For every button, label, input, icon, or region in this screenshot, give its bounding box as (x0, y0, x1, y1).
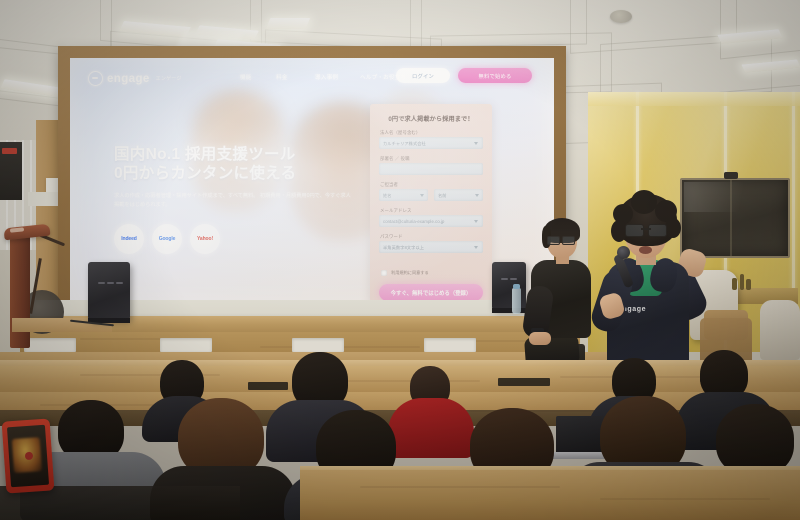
video-camera-icon (724, 172, 738, 179)
partner-logo-google: Google (152, 224, 182, 254)
signup-button[interactable]: 無料で始める (458, 68, 532, 83)
stage-recess (424, 338, 476, 352)
desk-object (732, 278, 737, 290)
hero-headline: 国内No.1 採用支援ツール 0円からカンタンに使える (114, 146, 364, 184)
form-value-company: カルチャリア株式会社 (383, 141, 426, 147)
partner-logos: Indeed Google Yahoo! (114, 224, 220, 254)
chevron-down-icon (420, 194, 424, 197)
headline-line-2: 0円からカンタンに使える (114, 165, 364, 184)
engage-circle-logo-icon (88, 71, 103, 86)
stage-recess (292, 338, 344, 352)
nav-item-0[interactable]: 機能 (240, 73, 252, 81)
desk-slot (498, 378, 550, 386)
terms-label: 利用規約に同意する (391, 270, 429, 276)
chevron-down-icon (474, 246, 478, 249)
headline-line-1: 国内No.1 採用支援ツール (114, 146, 364, 165)
login-button[interactable]: ログイン (396, 68, 450, 83)
engage-logo[interactable]: engage エンゲージ (88, 71, 182, 86)
signup-form-card: 0円で求人掲載から採用まで！ 法人名（屋号含む） カルチャリア株式会社 部署名 … (370, 104, 492, 304)
white-shelf-panel (28, 192, 62, 206)
partner-label: Yahoo! (197, 236, 213, 242)
logo-text: engage (107, 73, 150, 85)
panelist-hand (529, 332, 551, 345)
desk-object (746, 279, 751, 290)
form-input-department[interactable] (379, 163, 483, 175)
form-value-lastname: 姓名 (383, 193, 392, 199)
smartphone-red-case[interactable] (2, 418, 55, 493)
desk-object (740, 274, 744, 290)
exit-sign-icon (2, 148, 17, 154)
form-label-company: 法人名（屋号含む） (380, 130, 420, 136)
chevron-down-icon (474, 142, 478, 145)
partner-logo-indeed: Indeed (114, 224, 144, 254)
chevron-down-icon (475, 194, 479, 197)
pa-speaker (88, 262, 130, 320)
form-value-email: contact@culturia-example.co.jp (383, 219, 444, 224)
form-value-password: 半角英数字8文字以上 (383, 245, 424, 251)
terms-checkbox[interactable] (381, 270, 387, 276)
logo-subtext: エンゲージ (156, 75, 182, 82)
office-chair (760, 300, 800, 360)
audience-shoulders-red-sweater (388, 398, 474, 458)
form-label-contact: ご担当者 (380, 182, 398, 188)
partner-logo-yahoo: Yahoo! (190, 224, 220, 254)
stage-recess (160, 338, 212, 352)
seminar-room-photo: engage エンゲージ 機能 料金 導入事例 ヘルプ・お役立ち ログイン 無料… (0, 0, 800, 520)
front-desk (300, 470, 800, 520)
seated-panelist (525, 222, 595, 372)
chevron-down-icon (474, 220, 478, 223)
wood-pillar (36, 120, 60, 300)
stage-recess (24, 338, 76, 352)
desk-slot (248, 382, 288, 390)
microphone-head-icon (617, 246, 630, 259)
form-title: 0円で求人掲載から採用まで！ (370, 114, 492, 123)
bottle-cap (513, 284, 520, 289)
phone-screen[interactable] (7, 425, 49, 488)
hero-subcopy: 求人の作成・応募者管理・採用サイト作成まで、すべて無料。 初期費用・月額費用0円… (114, 192, 354, 210)
nav-item-2[interactable]: 導入事例 (315, 73, 338, 81)
form-label-email: メールアドレス (380, 208, 411, 214)
presenter-mouth (639, 246, 652, 254)
water-bottle (512, 288, 521, 314)
partner-label: Indeed (121, 236, 137, 242)
partner-label: Google (159, 236, 176, 242)
glasses-icon (547, 236, 575, 243)
form-label-password: パスワード (380, 234, 402, 240)
nav-item-1[interactable]: 料金 (276, 73, 288, 81)
projected-slide: engage エンゲージ 機能 料金 導入事例 ヘルプ・お役立ち ログイン 無料… (70, 58, 554, 304)
form-value-firstname: 名前 (438, 193, 447, 199)
slide-navbar: engage エンゲージ 機能 料金 導入事例 ヘルプ・お役立ち ログイン 無料… (70, 62, 554, 88)
form-submit-button[interactable]: 今すぐ、無料ではじめる（登録） (379, 284, 483, 301)
form-label-department: 部署名 ／ 役職 (380, 156, 410, 162)
